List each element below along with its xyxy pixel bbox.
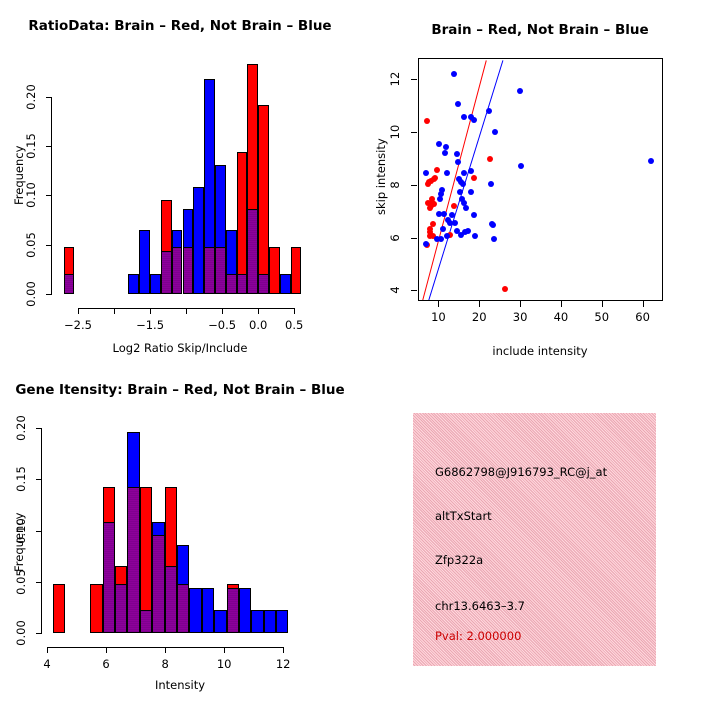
scatter-point-not-brain	[452, 220, 458, 226]
scatter-point-not-brain	[423, 241, 429, 247]
histogram-bar	[214, 610, 226, 633]
y-tick-label: 0.00	[14, 616, 28, 650]
scatter-y-tick-label: 8	[388, 168, 402, 202]
scatter-point-not-brain	[486, 108, 492, 114]
histogram-bar	[237, 152, 248, 294]
x-tick-label: 12	[258, 657, 308, 671]
scatter-y-tick-label: 12	[388, 62, 402, 96]
histogram-bar	[247, 209, 258, 294]
gene-hist-plot-area: 0.000.050.100.150.204681012	[50, 418, 295, 633]
y-tick-label: 0.15	[24, 129, 38, 163]
y-tick-label: 0.05	[14, 565, 28, 599]
scatter-title: Brain – Red, Not Brain – Blue	[360, 22, 720, 38]
scatter-point-not-brain	[436, 141, 442, 147]
histogram-bar	[264, 610, 276, 633]
x-tick-label: −2.5	[53, 318, 103, 332]
y-tick-label: 0.10	[14, 514, 28, 548]
y-axis-tick	[46, 195, 52, 196]
y-axis-tick	[46, 245, 52, 246]
histogram-bar	[258, 105, 269, 294]
y-tick-label: 0.20	[14, 411, 28, 445]
scatter-point-brain	[487, 156, 493, 162]
scatter-point-brain	[451, 203, 457, 209]
scatter-point-not-brain	[488, 181, 494, 187]
scatter-y-tick	[411, 132, 417, 133]
scatter-x-tick-label: 30	[495, 310, 545, 324]
r-plot-canvas: RatioData: Brain – Red, Not Brain – Blue…	[0, 0, 720, 720]
x-tick-label: 0.5	[269, 318, 319, 332]
scatter-plot-area	[418, 58, 663, 301]
scatter-x-tick	[520, 301, 521, 307]
x-axis-tick	[186, 308, 187, 314]
histogram-bar	[127, 487, 139, 633]
y-tick-label: 0.20	[24, 80, 38, 114]
scatter-y-tick-label: 4	[388, 273, 402, 307]
histogram-bar	[165, 566, 177, 633]
histogram-bar	[150, 274, 161, 294]
scatter-y-tick	[411, 79, 417, 80]
panel-ratio-histogram: RatioData: Brain – Red, Not Brain – Blue…	[0, 0, 360, 360]
scatter-point-not-brain	[442, 150, 448, 156]
scatter-point-not-brain	[458, 232, 464, 238]
x-axis-tick	[106, 647, 107, 653]
histogram-bar	[204, 247, 215, 294]
scatter-point-not-brain	[441, 211, 447, 217]
histogram-bar	[226, 274, 237, 294]
scatter-point-brain	[432, 175, 438, 181]
x-axis-tick	[283, 647, 284, 653]
scatter-point-not-brain	[438, 236, 444, 242]
scatter-y-tick	[411, 185, 417, 186]
x-axis-tick	[165, 647, 166, 653]
y-tick-label: 0.00	[24, 277, 38, 311]
x-axis-tick	[78, 308, 79, 314]
y-tick-label: 0.05	[24, 228, 38, 262]
panel-gene-histogram: Gene Itensity: Brain – Red, Not Brain – …	[0, 360, 360, 720]
histogram-bar	[183, 247, 194, 294]
panel-annotation-box: G6862798@J916793_RC@j_at altTxStart Zfp3…	[413, 413, 656, 666]
scatter-point-not-brain	[423, 170, 429, 176]
scatter-y-tick	[411, 290, 417, 291]
x-axis-tick	[47, 647, 48, 653]
histogram-bar	[115, 584, 127, 633]
x-axis-tick	[258, 308, 259, 314]
scatter-x-tick-label: 60	[618, 310, 668, 324]
scatter-point-not-brain	[461, 114, 467, 120]
histogram-bar	[103, 522, 115, 633]
scatter-point-brain	[471, 175, 477, 181]
histogram-bar	[193, 187, 204, 294]
scatter-x-tick-label: 10	[413, 310, 463, 324]
histogram-bar	[90, 584, 102, 633]
event-type-label: altTxStart	[435, 509, 492, 523]
histogram-bar	[215, 247, 226, 294]
scatter-point-not-brain	[444, 233, 450, 239]
histogram-bar	[152, 535, 164, 633]
x-axis-tick	[294, 308, 295, 314]
scatter-point-not-brain	[444, 170, 450, 176]
histogram-bar	[128, 274, 139, 294]
y-tick-label: 0.15	[14, 462, 28, 496]
y-axis-tick	[36, 428, 42, 429]
scatter-point-not-brain	[490, 222, 496, 228]
histogram-bar	[177, 584, 189, 633]
histogram-bar	[280, 274, 291, 294]
scatter-point-not-brain	[461, 170, 467, 176]
scatter-point-not-brain	[468, 168, 474, 174]
scatter-point-not-brain	[437, 196, 443, 202]
x-axis-tick	[114, 308, 115, 314]
y-axis-tick	[36, 531, 42, 532]
scatter-y-tick	[411, 238, 417, 239]
y-axis-tick	[46, 294, 52, 295]
ratio-hist-plot-area: 0.000.050.100.150.20−2.5−1.5−0.50.00.5	[60, 62, 305, 294]
scatter-x-tick	[643, 301, 644, 307]
histogram-bar	[276, 610, 288, 633]
scatter-point-not-brain	[460, 181, 466, 187]
histogram-bar	[227, 588, 239, 633]
histogram-bar	[139, 230, 150, 294]
scatter-point-not-brain	[463, 205, 469, 211]
x-tick-label: 4	[22, 657, 72, 671]
ratio-hist-title: RatioData: Brain – Red, Not Brain – Blue	[0, 18, 360, 34]
scatter-point-not-brain	[465, 228, 471, 234]
x-tick-label: 8	[140, 657, 190, 671]
histogram-bar	[258, 274, 269, 294]
scatter-x-tick-label: 50	[577, 310, 627, 324]
locus-label: chr13.6463–3.7	[435, 599, 525, 613]
y-axis-tick	[36, 582, 42, 583]
scatter-x-tick	[438, 301, 439, 307]
gene-hist-title: Gene Itensity: Brain – Red, Not Brain – …	[0, 382, 360, 398]
scatter-point-not-brain	[491, 236, 497, 242]
scatter-point-brain	[434, 167, 440, 173]
histogram-bar	[53, 584, 65, 633]
ratio-hist-xlabel: Log2 Ratio Skip/Include	[0, 341, 360, 355]
scatter-xlabel: include intensity	[360, 344, 720, 358]
y-axis-tick	[36, 479, 42, 480]
histogram-bar	[189, 588, 201, 633]
scatter-point-not-brain	[492, 129, 498, 135]
x-axis-tick	[150, 308, 151, 314]
x-tick-label: −1.5	[125, 318, 175, 332]
histogram-bar	[251, 610, 263, 633]
probe-id-label: G6862798@J916793_RC@j_at	[435, 465, 607, 479]
scatter-point-not-brain	[517, 88, 523, 94]
scatter-x-tick	[602, 301, 603, 307]
scatter-point-brain	[502, 286, 508, 292]
y-axis-tick	[36, 633, 42, 634]
scatter-point-not-brain	[518, 163, 524, 169]
scatter-x-tick	[561, 301, 562, 307]
panel-scatter: Brain – Red, Not Brain – Blue skip inten…	[360, 0, 720, 360]
histogram-bar	[161, 251, 172, 294]
histogram-bar	[202, 588, 214, 633]
x-axis-tick	[224, 647, 225, 653]
scatter-point-brain	[427, 205, 433, 211]
scatter-x-tick-label: 20	[454, 310, 504, 324]
y-axis-tick	[46, 146, 52, 147]
scatter-y-tick-label: 6	[388, 221, 402, 255]
scatter-point-brain	[424, 118, 430, 124]
scatter-x-tick-label: 40	[536, 310, 586, 324]
scatter-point-brain	[425, 181, 431, 187]
histogram-bar	[64, 274, 75, 294]
scatter-point-not-brain	[455, 159, 461, 165]
scatter-point-not-brain	[468, 189, 474, 195]
scatter-point-not-brain	[455, 101, 461, 107]
pval-label: Pval: 2.000000	[435, 629, 521, 643]
scatter-point-brain	[429, 196, 435, 202]
scatter-point-not-brain	[648, 158, 654, 164]
x-axis-tick	[222, 308, 223, 314]
x-tick-label: 6	[81, 657, 131, 671]
scatter-y-tick-label: 10	[388, 115, 402, 149]
scatter-ylabel: skip intensity	[374, 138, 388, 215]
y-axis-tick	[46, 97, 52, 98]
scatter-point-not-brain	[471, 212, 477, 218]
gene-symbol-label: Zfp322a	[435, 553, 483, 567]
x-tick-label: 10	[199, 657, 249, 671]
scatter-x-tick	[479, 301, 480, 307]
scatter-point-not-brain	[440, 226, 446, 232]
histogram-bar	[172, 247, 183, 294]
gene-hist-xlabel: Intensity	[0, 678, 360, 692]
histogram-bar	[239, 588, 251, 633]
histogram-bar	[269, 247, 280, 294]
y-tick-label: 0.10	[24, 178, 38, 212]
scatter-point-not-brain	[472, 233, 478, 239]
histogram-bar	[237, 274, 248, 294]
scatter-point-not-brain	[451, 71, 457, 77]
scatter-point-not-brain	[454, 151, 460, 157]
scatter-point-not-brain	[471, 117, 477, 123]
histogram-bar	[291, 247, 302, 294]
histogram-bar	[140, 610, 152, 633]
